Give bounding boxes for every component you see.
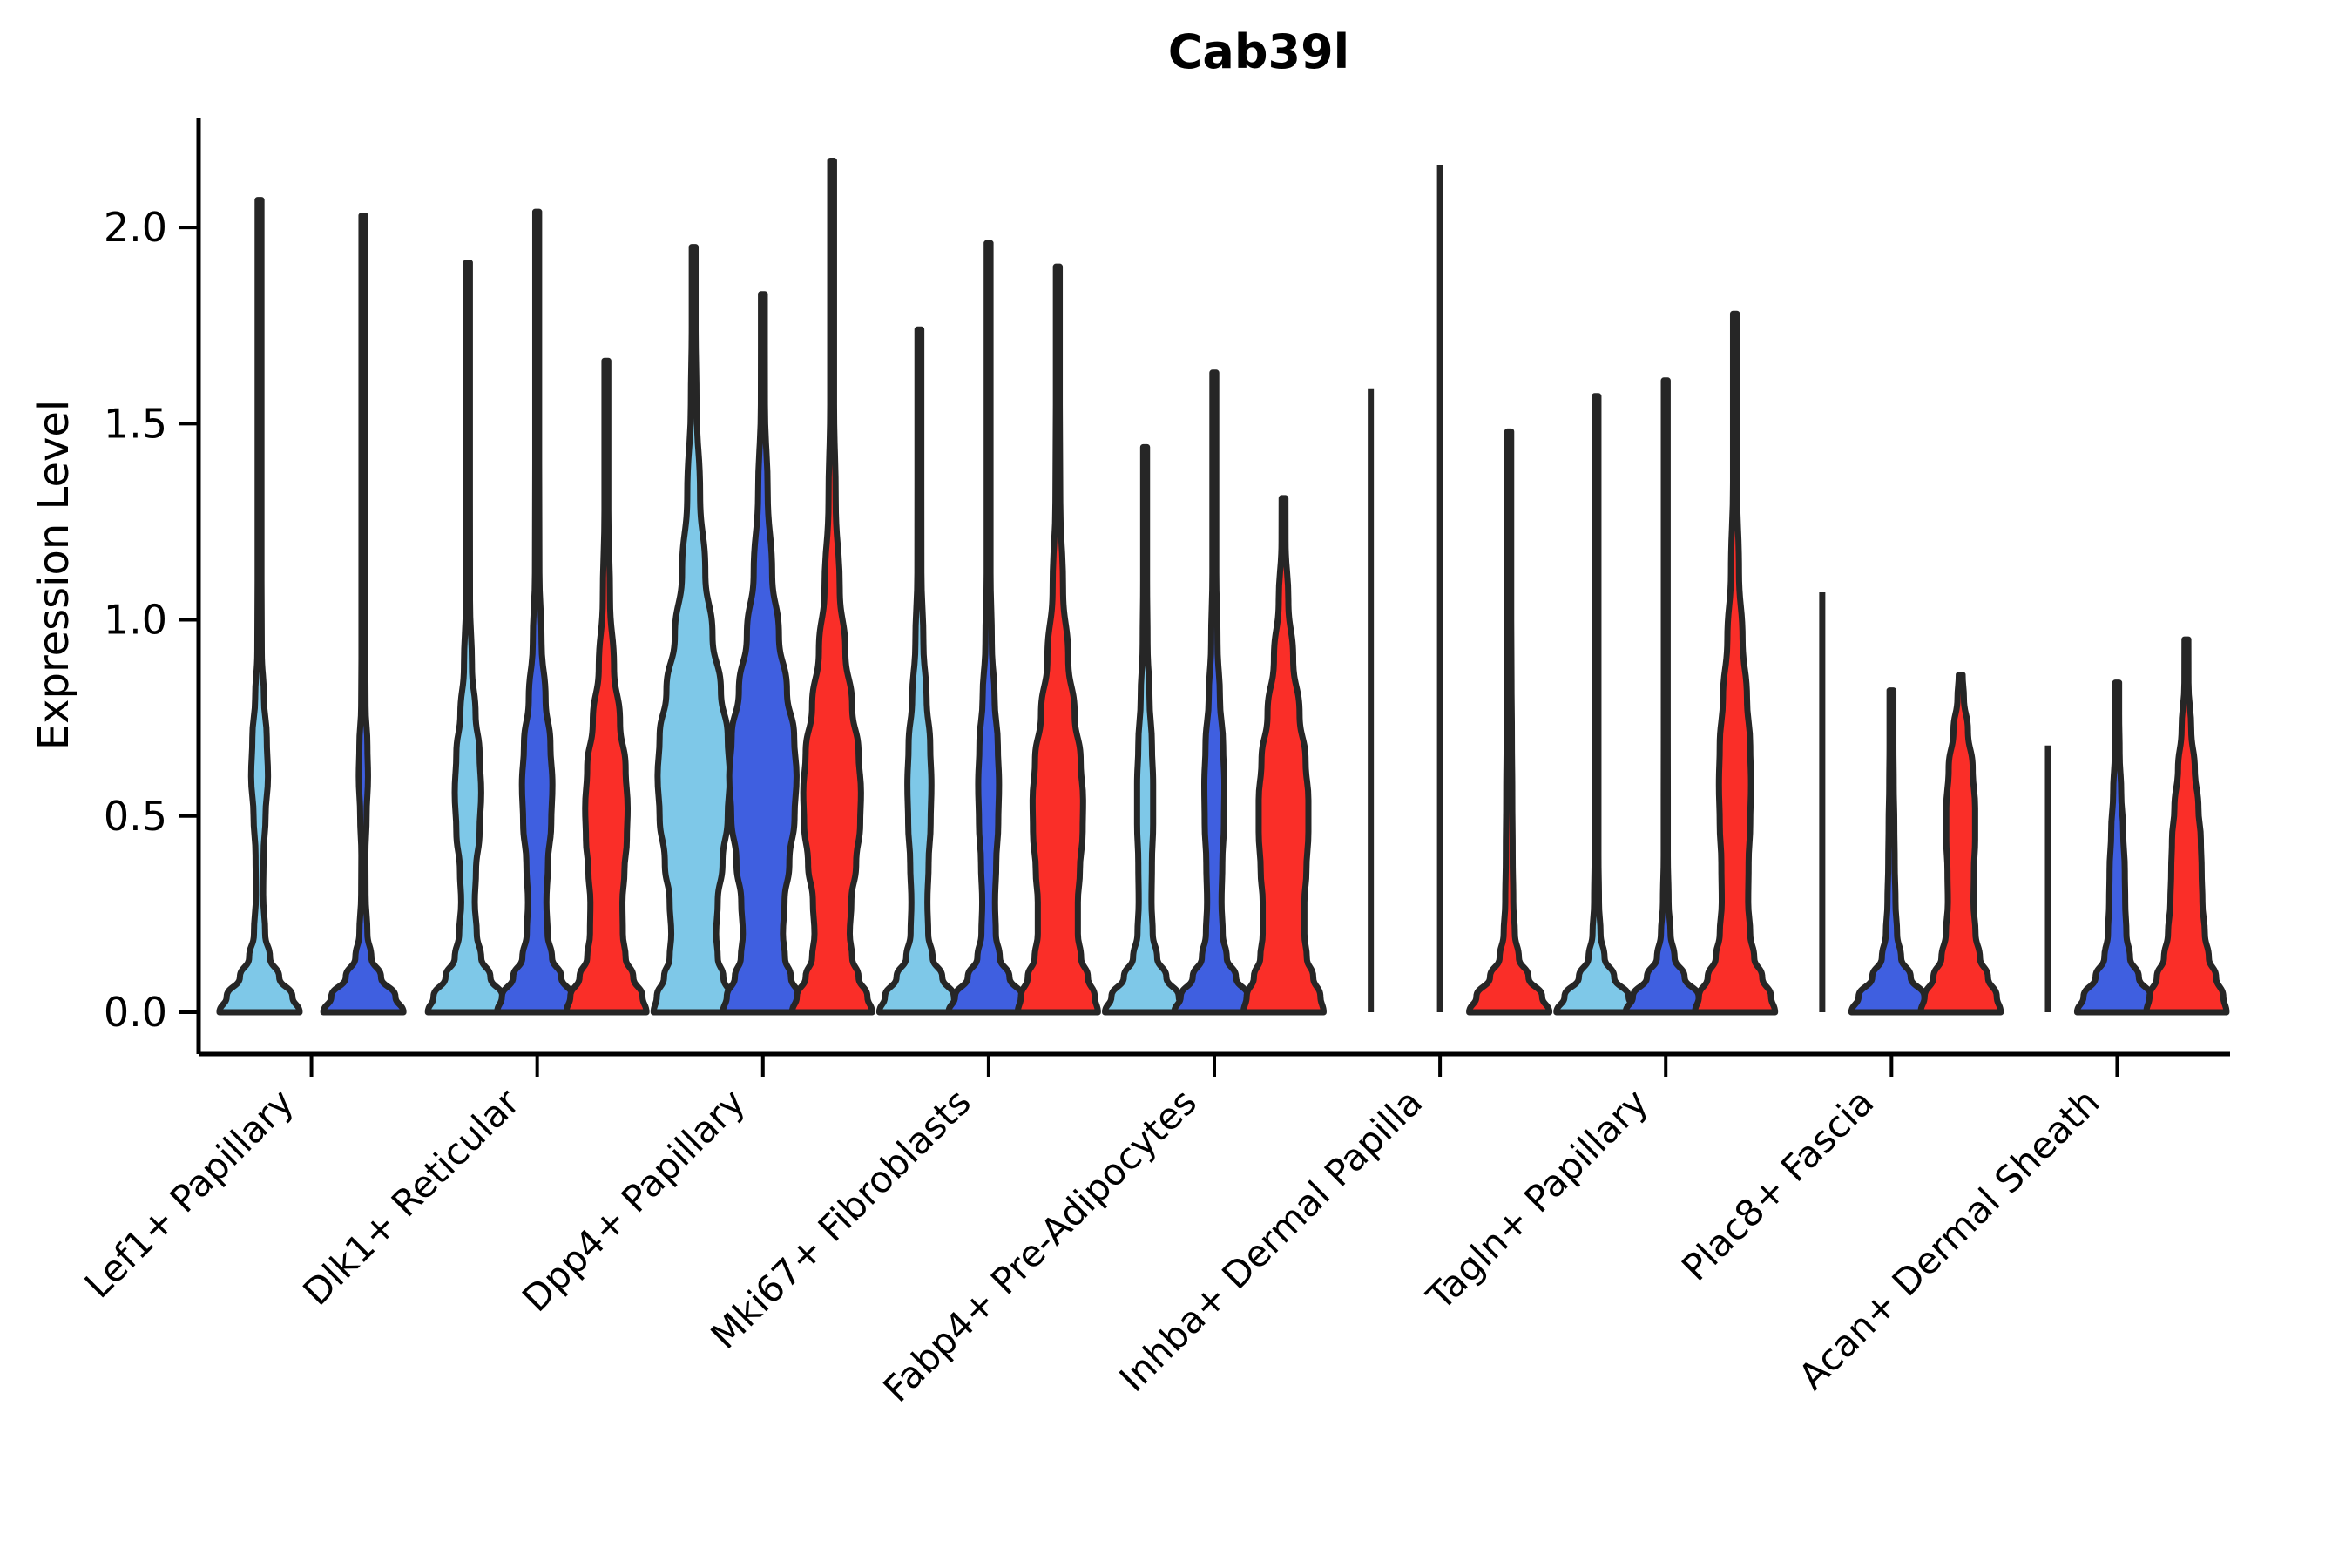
y-tick-label: 1.5 [104,400,167,447]
y-axis-label: Expression Level [30,400,78,751]
page-title: Cab39l [1168,24,1349,79]
y-tick-label: 0.5 [104,793,167,840]
y-tick-label: 1.0 [104,597,167,644]
plot-canvas: Cab39l Expression Level 0.00.51.01.52.0 … [0,0,2352,1568]
y-tick-label: 2.0 [104,204,167,251]
violin-plot-figure: Cab39l Expression Level 0.00.51.01.52.0 … [0,0,2352,1568]
y-tick-label: 0.0 [104,989,167,1036]
